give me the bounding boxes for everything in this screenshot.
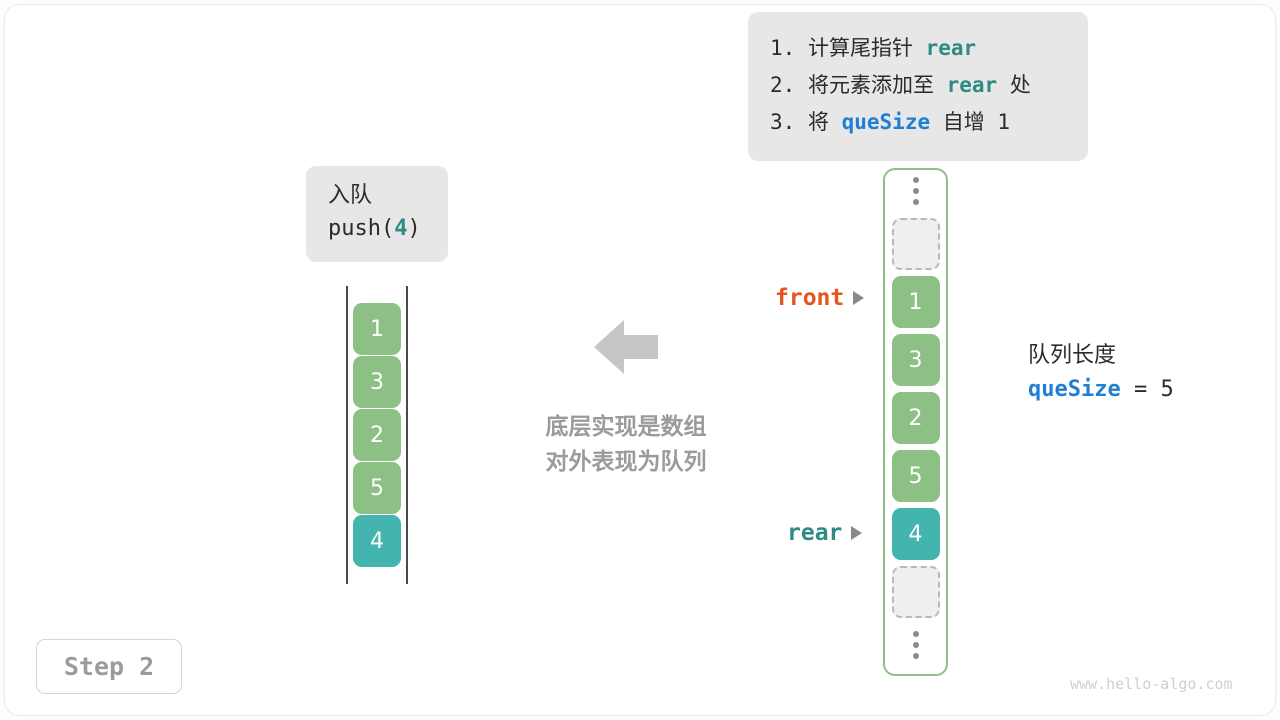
instruction-code-2: rear [947,73,998,97]
diagram-canvas: 1. 计算尾指针 rear 2. 将元素添加至 rear 处 3. 将 queS… [0,0,1280,720]
queue-cell: 3 [353,356,401,408]
instruction-index-1: 1. [770,36,795,60]
push-call-prefix: push( [328,216,394,241]
left-arrow-icon [594,318,658,376]
instruction-line-2: 2. 将元素添加至 rear 处 [770,67,1068,104]
instruction-index-2: 2. [770,73,795,97]
center-caption-line-1: 底层实现是数组 [497,410,755,445]
queue-size-expression: queSize = 5 [1028,372,1174,408]
instruction-text-3: 将 [808,110,829,134]
rear-pointer-arrow-icon [851,526,862,540]
step-badge: Step 2 [36,639,182,694]
watermark: www.hello-algo.com [1070,675,1233,693]
instruction-code-1: rear [926,36,977,60]
ellipsis-icon [913,624,919,666]
array-slot: 1 [892,276,940,328]
array-slot: 5 [892,450,940,502]
instruction-index-3: 3. [770,110,795,134]
array-slot: 2 [892,392,940,444]
array-slot-empty [892,566,940,618]
queue-cell: 1 [353,303,401,355]
queue-cell: 5 [353,462,401,514]
queue-rail-left [346,286,348,584]
instruction-code-3: queSize [842,110,931,134]
instruction-panel: 1. 计算尾指针 rear 2. 将元素添加至 rear 处 3. 将 queS… [748,12,1088,161]
queue-size-equals: = [1134,377,1147,402]
center-caption: 底层实现是数组 对外表现为队列 [497,410,755,480]
instruction-suffix-3: 自增 1 [943,110,1010,134]
queue-size-readout: 队列长度 queSize = 5 [1028,340,1174,408]
instruction-line-3: 3. 将 queSize 自增 1 [770,104,1068,141]
logical-queue: 13254 [346,286,408,584]
front-pointer-arrow-icon [853,291,864,305]
instruction-text-2: 将元素添加至 [808,73,934,97]
front-pointer-label: front [775,285,864,311]
queue-cell-list: 13254 [353,303,401,567]
push-title: 入队 [328,180,430,212]
instruction-text-1: 计算尾指针 [808,36,913,60]
backing-array: 13254 [883,168,948,676]
queue-size-value: 5 [1160,377,1173,402]
array-slot: 4 [892,508,940,560]
array-slot: 3 [892,334,940,386]
queue-size-var: queSize [1028,377,1121,402]
front-pointer-text: front [775,285,844,311]
push-operation-label: 入队 push(4) [306,166,448,262]
queue-rail-right [406,286,408,584]
queue-cell: 4 [353,515,401,567]
push-call-suffix: ) [407,216,420,241]
instruction-line-1: 1. 计算尾指针 rear [770,30,1068,67]
push-call-value: 4 [394,216,407,241]
rear-pointer-label: rear [787,520,862,546]
array-slot-empty [892,218,940,270]
ellipsis-icon [913,170,919,212]
queue-size-label: 队列长度 [1028,340,1174,372]
queue-cell: 2 [353,409,401,461]
instruction-suffix-2: 处 [1010,73,1031,97]
push-call: push(4) [328,212,430,246]
array-slot-list: 13254 [891,170,940,666]
center-caption-line-2: 对外表现为队列 [497,445,755,480]
rear-pointer-text: rear [787,520,842,546]
